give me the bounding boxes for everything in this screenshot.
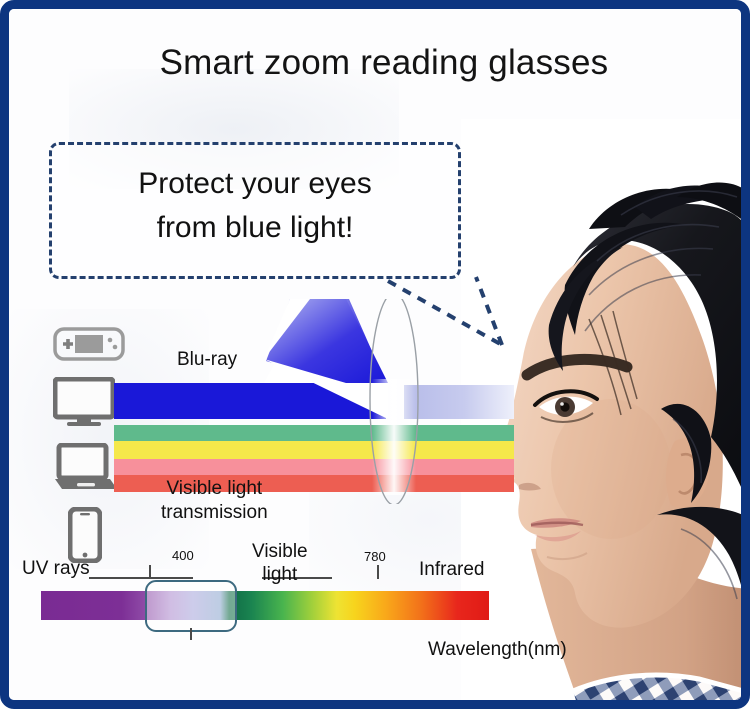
poster-card: Smart zoom reading glasses Protect your … xyxy=(0,0,750,709)
visible-line-1: Visible xyxy=(252,540,308,563)
blue-light-highlight-box xyxy=(145,580,237,632)
uv-rays-label: UV rays xyxy=(22,558,90,580)
speech-bubble: Protect your eyes from blue light! xyxy=(49,142,461,279)
visible-line-2: light xyxy=(252,563,308,586)
speech-bubble-line-2: from blue light! xyxy=(52,206,458,250)
wavelength-axis-label: Wavelength(nm) xyxy=(428,639,567,661)
blu-ray-label: Blu-ray xyxy=(177,349,237,371)
uv-axis-line xyxy=(89,577,193,579)
visible-light-transmission-label: Visible light transmission xyxy=(161,477,268,525)
tick-400 xyxy=(149,565,151,579)
tick-780 xyxy=(377,565,379,579)
spectrum-bar xyxy=(41,591,489,620)
wavelength-780-label: 780 xyxy=(364,549,386,564)
page-title: Smart zoom reading glasses xyxy=(9,43,750,83)
speech-bubble-line-1: Protect your eyes xyxy=(52,162,458,206)
highlight-tick xyxy=(190,628,192,640)
vlt-line-2: transmission xyxy=(161,501,268,525)
visible-light-label: Visible light xyxy=(252,540,308,586)
wavelength-400-label: 400 xyxy=(172,548,194,563)
light-beam-diagram xyxy=(114,299,514,504)
vlt-line-1: Visible light xyxy=(161,477,268,501)
infrared-label: Infrared xyxy=(419,559,484,581)
